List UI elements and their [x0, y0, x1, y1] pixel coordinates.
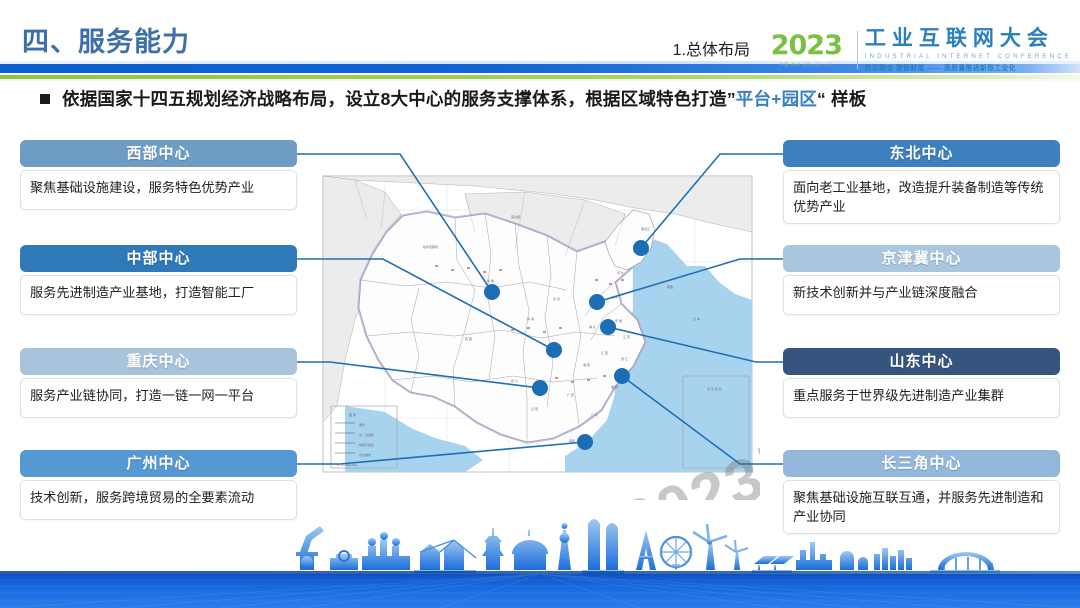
logo-year-text: 2023	[771, 32, 842, 59]
svg-text:特别行政区: 特别行政区	[359, 442, 374, 447]
svg-text:浙 江: 浙 江	[621, 356, 628, 361]
ground-grid	[0, 574, 1080, 608]
section-subtitle: 1.总体布局	[673, 36, 750, 60]
svg-text:福 建: 福 建	[611, 384, 618, 389]
svg-text:辽 宁: 辽 宁	[633, 248, 640, 253]
logo-divider	[857, 31, 858, 69]
svg-text:安 徽: 安 徽	[615, 318, 622, 323]
logo-en-title: INDUSTRIAL INTERNET CONFERENCE	[865, 53, 1072, 60]
logo-tagline: 数实融合 数智赋能 —— 高质量推进新型工业化	[865, 62, 1072, 72]
center-card-header[interactable]: 重庆中心	[20, 348, 297, 375]
center-card-body: 面向老工业基地，改造提升装备制造等传统优势产业	[783, 170, 1060, 224]
china-map: 蒙古国 哈萨克斯坦 新 疆 西 藏 青 海 甘 肃 四 川 云 南 广 西 湖 …	[315, 170, 760, 500]
svg-text:河 北: 河 北	[617, 270, 624, 275]
center-card-body: 新技术创新并与产业链深度融合	[783, 275, 1060, 315]
center-card-header[interactable]: 长三角中心	[783, 450, 1060, 477]
svg-text:日 本: 日 本	[693, 316, 700, 321]
center-card-guangzhou[interactable]: 广州中心 技术创新，服务跨境贸易的全要素流动	[20, 450, 297, 520]
svg-text:河 南: 河 南	[589, 300, 596, 305]
svg-text:图 例: 图 例	[349, 412, 356, 417]
svg-text:江 苏: 江 苏	[623, 334, 630, 339]
industrial-skyline-decor	[0, 512, 1080, 574]
center-card-west[interactable]: 西部中心 聚焦基础设施建设，服务特色优势产业	[20, 140, 297, 210]
slide-root: 四、服务能力 1.总体布局 2023 中国·苏州 8月14日-16日 工业互联网…	[0, 0, 1080, 608]
svg-text:国界: 国界	[359, 422, 365, 427]
svg-text:湖 北: 湖 北	[589, 324, 596, 329]
svg-text:四 川: 四 川	[511, 379, 518, 383]
logo-year-block: 2023 中国·苏州 8月14日-16日	[771, 32, 850, 68]
svg-text:广 东: 广 东	[591, 412, 598, 417]
center-card-chongqing[interactable]: 重庆中心 服务产业链协同，打造一链一网一平台	[20, 348, 297, 418]
logo-cn-title: 工业互联网大会	[865, 28, 1072, 50]
center-card-shandong[interactable]: 山东中心 重点服务于世界级先进制造产业集群	[783, 348, 1060, 418]
center-card-body: 聚焦基础设施建设，服务特色优势产业	[20, 170, 297, 210]
svg-text:蒙古国: 蒙古国	[511, 214, 520, 219]
svg-text:1：22 000 000: 1：22 000 000	[337, 463, 357, 467]
bullet-text-highlight: 平台+园区	[736, 89, 817, 109]
svg-text:省、自治区: 省、自治区	[359, 432, 374, 437]
center-card-header[interactable]: 京津冀中心	[783, 245, 1060, 272]
svg-text:新 疆: 新 疆	[487, 278, 494, 283]
center-card-header[interactable]: 中部中心	[20, 245, 297, 272]
svg-text:甘 肃: 甘 肃	[553, 296, 560, 301]
bullet-text-before: 依据国家十四五规划经济战略布局，设立8大中心的服务支撑体系，根据区域特色打造”	[62, 89, 736, 109]
svg-text:江 西: 江 西	[601, 350, 608, 355]
china-map-svg: 蒙古国 哈萨克斯坦 新 疆 西 藏 青 海 甘 肃 四 川 云 南 广 西 湖 …	[315, 170, 760, 500]
svg-text:湖 南: 湖 南	[583, 362, 590, 367]
bullet-text-after: “ 样板	[817, 89, 866, 109]
ground-band	[0, 574, 1080, 608]
svg-text:黑龙江: 黑龙江	[641, 226, 650, 231]
page-title: 四、服务能力	[22, 20, 190, 59]
svg-text:云 南: 云 南	[531, 406, 538, 411]
svg-text:青 海: 青 海	[527, 316, 534, 321]
center-card-header[interactable]: 山东中心	[783, 348, 1060, 375]
header-rule-green-fade	[0, 79, 1080, 81]
svg-text:韩国: 韩国	[667, 284, 673, 289]
center-card-body: 服务产业链协同，打造一链一网一平台	[20, 378, 297, 418]
logo-year-subtext: 中国·苏州 8月14日-16日	[779, 62, 833, 67]
svg-text:哈萨克斯坦: 哈萨克斯坦	[423, 244, 438, 249]
center-card-header[interactable]: 西部中心	[20, 140, 297, 167]
center-card-central[interactable]: 中部中心 服务先进制造产业基地，打造智能工厂	[20, 245, 297, 315]
center-card-body: 服务先进制造产业基地，打造智能工厂	[20, 275, 297, 315]
svg-text:南 海 诸 岛: 南 海 诸 岛	[707, 386, 722, 391]
center-card-jingjinji[interactable]: 京津冀中心 新技术创新并与产业链深度融合	[783, 245, 1060, 315]
svg-text:广 西: 广 西	[567, 392, 574, 397]
center-card-header[interactable]: 东北中心	[783, 140, 1060, 167]
center-card-body: 重点服务于世界级先进制造产业集群	[783, 378, 1060, 418]
logo-text-block: 工业互联网大会 INDUSTRIAL INTERNET CONFERENCE 数…	[865, 28, 1072, 71]
bullet-row: 依据国家十四五规划经济战略布局，设立8大中心的服务支撑体系，根据区域特色打造”平…	[40, 86, 866, 111]
svg-text:海南: 海南	[569, 438, 575, 443]
center-card-northeast[interactable]: 东北中心 面向老工业基地，改造提升装备制造等传统优势产业	[783, 140, 1060, 224]
svg-text:省会城市: 省会城市	[359, 452, 371, 457]
center-card-header[interactable]: 广州中心	[20, 450, 297, 477]
square-bullet-icon	[40, 94, 50, 104]
conference-logo: 2023 中国·苏州 8月14日-16日 工业互联网大会 INDUSTRIAL …	[771, 26, 1072, 74]
svg-text:西 藏: 西 藏	[465, 336, 472, 341]
bullet-text: 依据国家十四五规划经济战略布局，设立8大中心的服务支撑体系，根据区域特色打造”平…	[62, 86, 866, 111]
svg-text:山 东: 山 东	[611, 294, 618, 299]
